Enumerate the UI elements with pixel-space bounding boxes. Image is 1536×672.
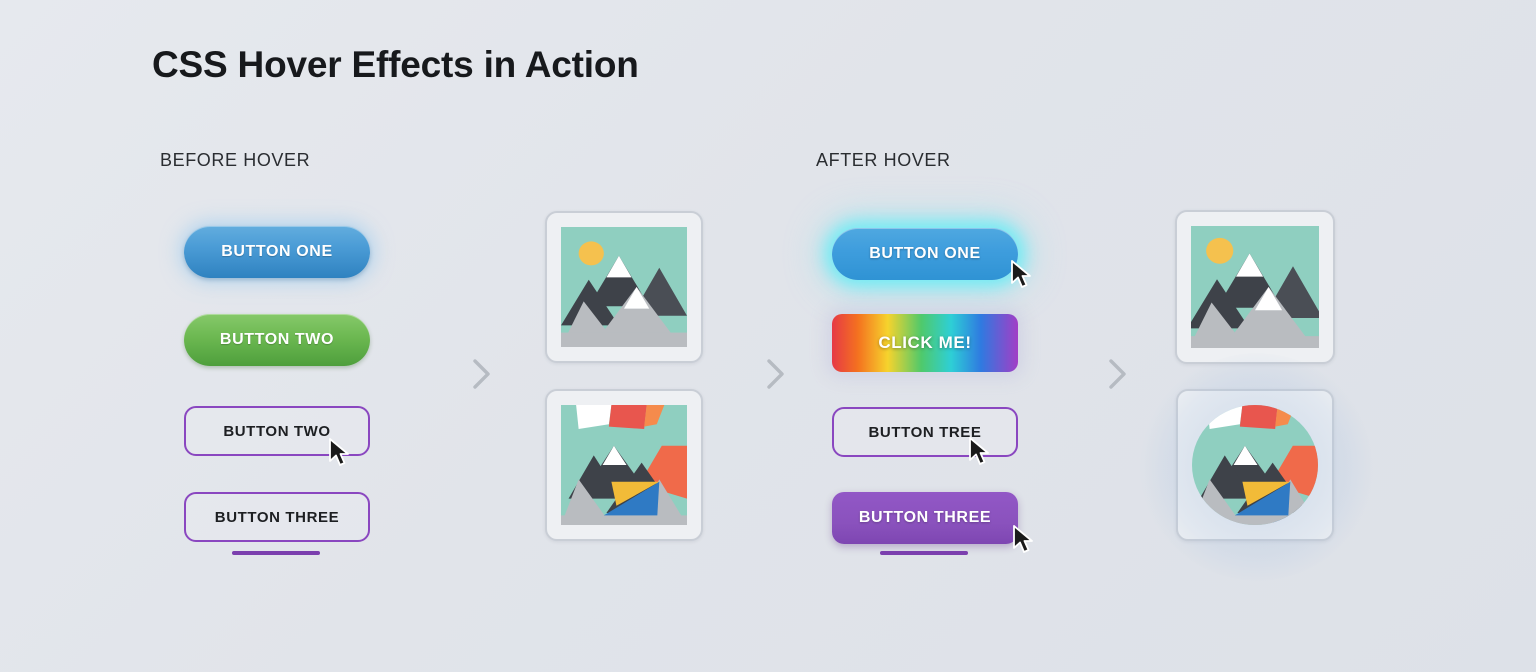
- mountain-sun-image: [561, 227, 687, 347]
- mountain-abstract-image: [561, 405, 687, 525]
- thumbnail-frame-mountain-sun-hover[interactable]: [1175, 210, 1335, 364]
- before-button-two[interactable]: BUTTON TWO: [184, 314, 370, 366]
- mountain-abstract-image-circle: [1192, 405, 1318, 525]
- chevron-right-icon: [462, 352, 502, 396]
- before-button-one[interactable]: BUTTON ONE: [184, 226, 370, 278]
- thumbnail-frame-mountain-abstract[interactable]: [545, 389, 703, 541]
- before-button-two-outlined[interactable]: BUTTON TWO: [184, 406, 370, 456]
- after-underline-bar: [880, 551, 968, 555]
- chevron-right-icon: [1098, 352, 1138, 396]
- page-title: CSS Hover Effects in Action: [152, 44, 639, 86]
- thumbnail-frame-mountain-sun[interactable]: [545, 211, 703, 363]
- after-hover-label: AFTER HOVER: [816, 150, 951, 171]
- before-underline-bar: [232, 551, 320, 555]
- after-button-click-me[interactable]: CLICK ME!: [832, 314, 1018, 372]
- after-button-one[interactable]: BUTTON ONE: [832, 228, 1018, 280]
- after-button-three-filled[interactable]: BUTTON THREE: [832, 492, 1018, 544]
- mountain-sun-image-scaled: [1191, 226, 1319, 348]
- after-button-tree-outlined[interactable]: BUTTON TREE: [832, 407, 1018, 457]
- before-hover-label: BEFORE HOVER: [160, 150, 310, 171]
- chevron-right-icon: [756, 352, 796, 396]
- thumbnail-frame-mountain-abstract-hover[interactable]: [1176, 389, 1334, 541]
- before-button-three-outlined[interactable]: BUTTON THREE: [184, 492, 370, 542]
